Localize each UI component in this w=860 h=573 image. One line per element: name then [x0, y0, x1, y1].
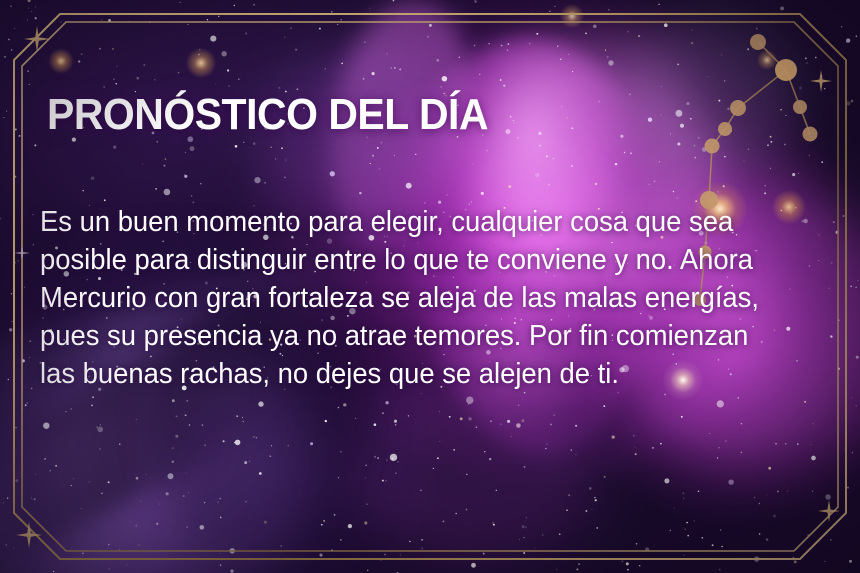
text-content: PRONÓSTICO DEL DÍA Es un buen momento pa… — [0, 0, 860, 573]
forecast-body-text: Es un buen momento para elegir, cualquie… — [40, 203, 796, 393]
page-title: PRONÓSTICO DEL DÍA — [47, 92, 488, 138]
body-line: Mercurio con gran fortaleza se aleja de … — [40, 279, 796, 317]
body-line: posible para distinguir entre lo que te … — [40, 241, 796, 279]
body-line: Es un buen momento para elegir, cualquie… — [40, 203, 796, 241]
horoscope-poster: PRONÓSTICO DEL DÍA Es un buen momento pa… — [0, 0, 860, 573]
body-line: pues su presencia ya no atrae temores. P… — [40, 317, 796, 355]
body-line: las buenas rachas, no dejes que se aleje… — [40, 355, 796, 393]
